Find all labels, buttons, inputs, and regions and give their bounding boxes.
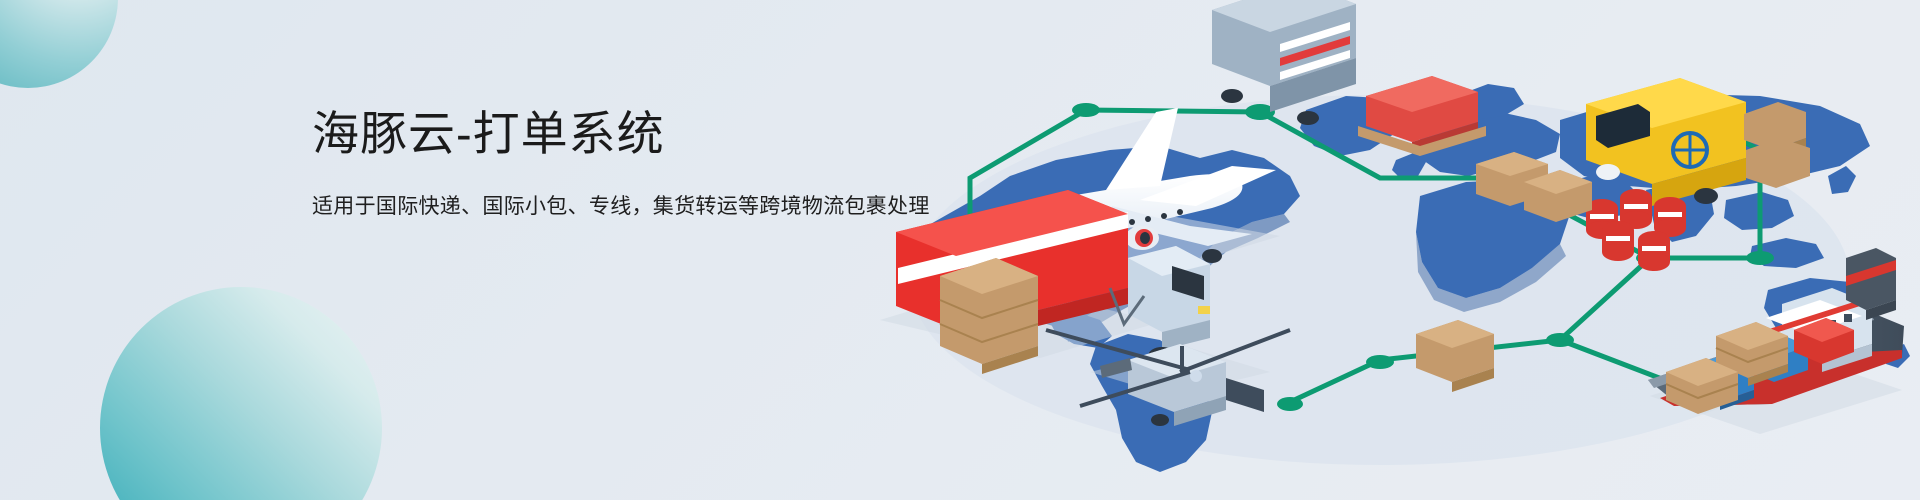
decorative-circle-bottom-left: [100, 287, 382, 500]
hero-banner: 海豚云-打单系统 适用于国际快递、国际小包、专线，集货转运等跨境物流包裹处理: [0, 0, 1920, 500]
page-subtitle: 适用于国际快递、国际小包、专线，集货转运等跨境物流包裹处理: [312, 161, 952, 223]
page-title: 海豚云-打单系统: [312, 106, 952, 161]
banner-copy: 海豚云-打单系统 适用于国际快递、国际小包、专线，集货转运等跨境物流包裹处理: [312, 106, 952, 223]
landmass-japan: [1828, 166, 1856, 194]
isometric-global-logistics-map: [860, 0, 1920, 500]
decorative-circle-top-left: [0, 0, 118, 88]
